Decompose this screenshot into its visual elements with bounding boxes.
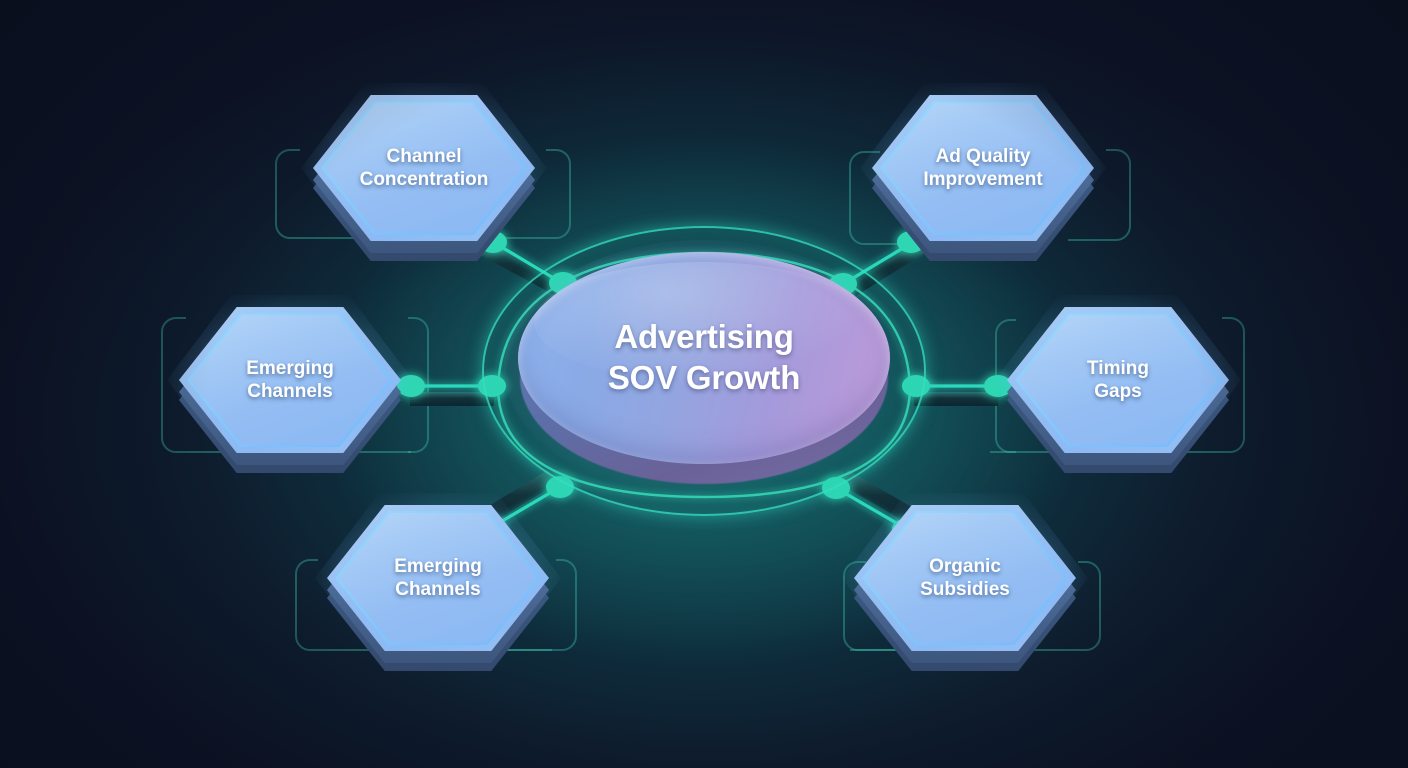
node-ad-quality-improvement[interactable]: Ad Quality Improvement <box>872 95 1094 261</box>
node-label: Channel Concentration <box>313 95 535 241</box>
node-label-line1: Organic <box>920 555 1010 578</box>
node-label-line1: Ad Quality <box>923 145 1042 168</box>
node-label-line1: Channel <box>360 145 489 168</box>
node-label-line2: Concentration <box>360 168 489 191</box>
node-emerging-channels-bottom[interactable]: Emerging Channels <box>327 505 549 671</box>
node-label-line1: Emerging <box>394 555 482 578</box>
node-label: Emerging Channels <box>327 505 549 651</box>
node-emerging-channels-left[interactable]: Emerging Channels <box>179 307 401 473</box>
node-label: Timing Gaps <box>1007 307 1229 453</box>
hub-label-line1: Advertising <box>608 317 800 358</box>
node-label-line2: Subsidies <box>920 578 1010 601</box>
node-label: Emerging Channels <box>179 307 401 453</box>
node-channel-concentration[interactable]: Channel Concentration <box>313 95 535 261</box>
hub-label-line2: SOV Growth <box>608 358 800 399</box>
hub-label: Advertising SOV Growth <box>608 317 800 398</box>
node-label-line1: Emerging <box>246 357 334 380</box>
hub-surface: Advertising SOV Growth <box>518 252 890 464</box>
diagram-canvas: Advertising SOV Growth Channel Concentra… <box>0 0 1408 768</box>
node-label: Ad Quality Improvement <box>872 95 1094 241</box>
node-timing-gaps[interactable]: Timing Gaps <box>1007 307 1229 473</box>
node-label-line2: Channels <box>246 380 334 403</box>
node-label: Organic Subsidies <box>854 505 1076 651</box>
node-label-line2: Improvement <box>923 168 1042 191</box>
node-label-line2: Gaps <box>1087 380 1149 403</box>
node-label-line2: Channels <box>394 578 482 601</box>
hub-node[interactable]: Advertising SOV Growth <box>518 252 890 484</box>
node-label-line1: Timing <box>1087 357 1149 380</box>
node-organic-subsidies[interactable]: Organic Subsidies <box>854 505 1076 671</box>
